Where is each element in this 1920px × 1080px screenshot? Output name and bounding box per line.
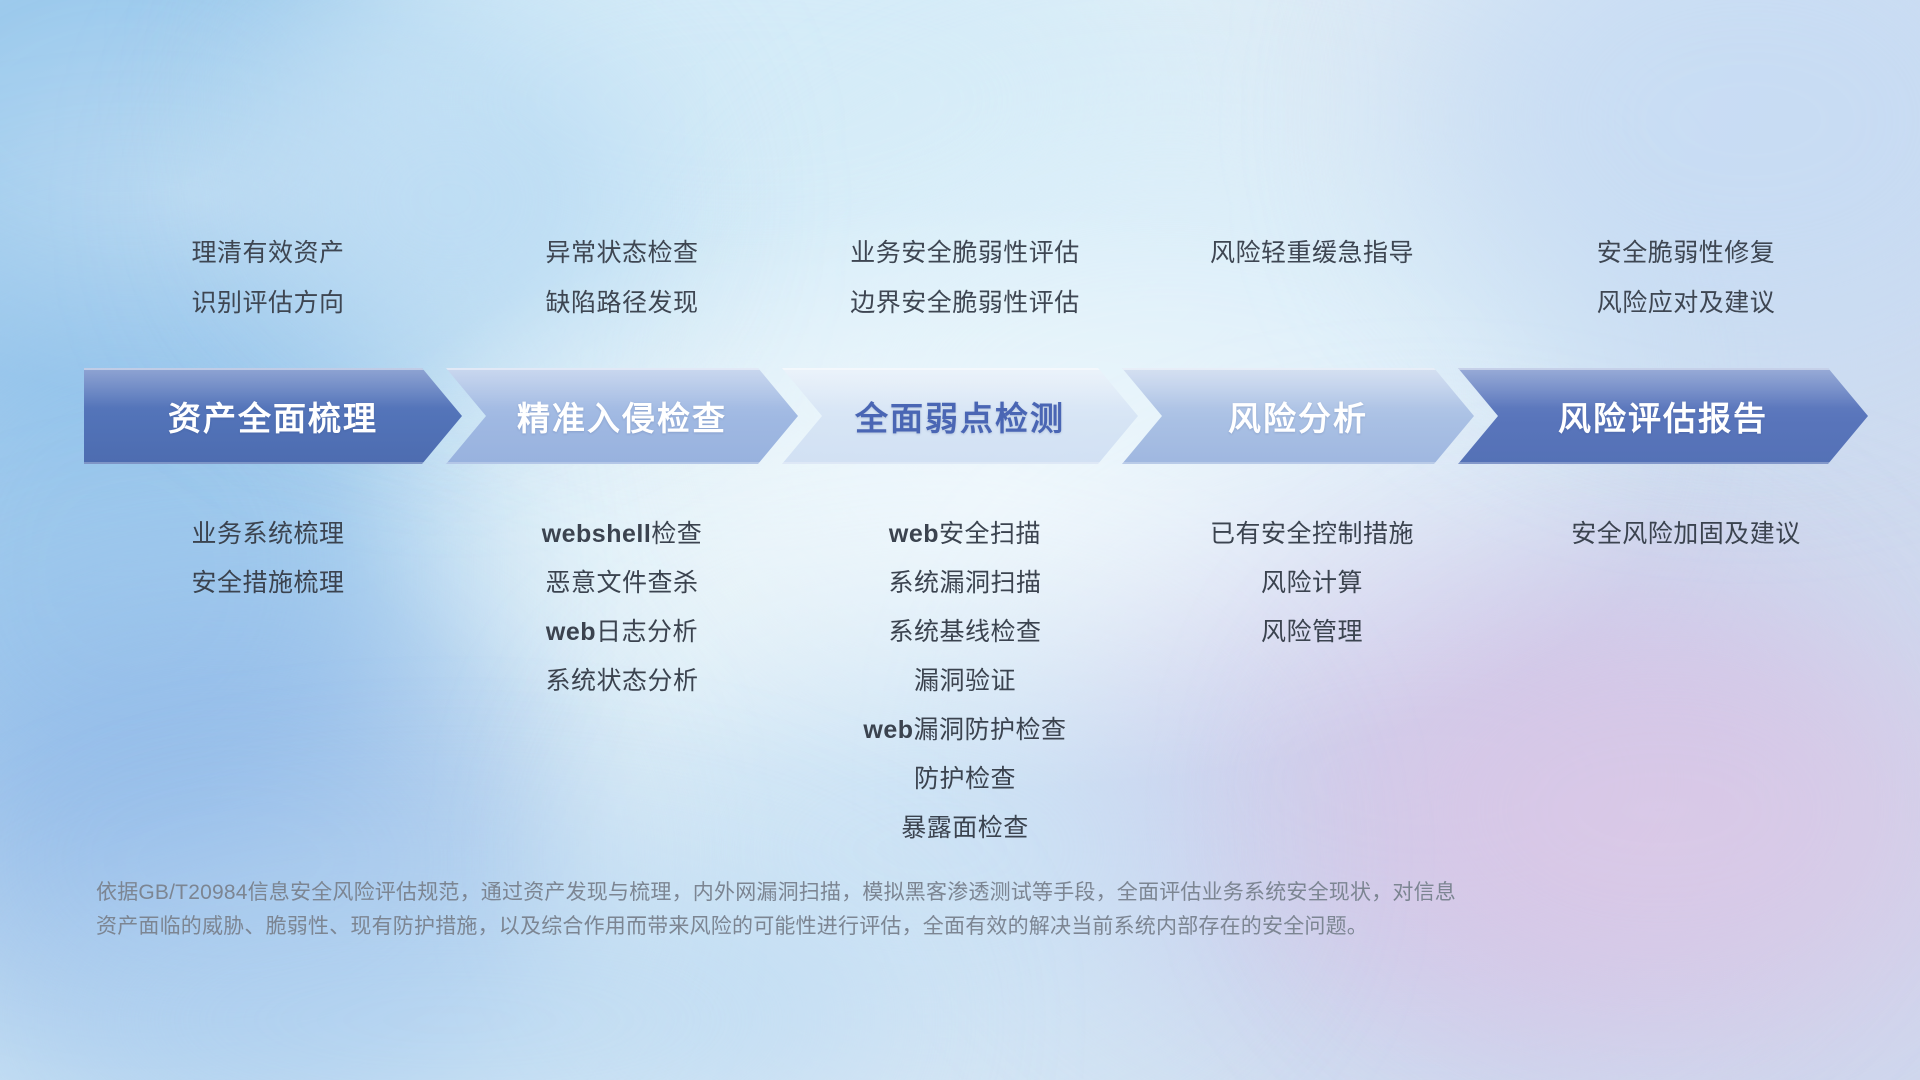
bottom-labels-asset-inventory: 业务系统梳理安全措施梳理 bbox=[84, 510, 452, 853]
top-label: 缺陷路径发现 bbox=[452, 278, 792, 328]
top-labels-weakness-detection: 业务安全脆弱性评估 边界安全脆弱性评估 bbox=[792, 228, 1138, 328]
bottom-label: 系统漏洞扫描 bbox=[792, 559, 1138, 608]
bottom-labels-row: 业务系统梳理安全措施梳理 webshell检查恶意文件查杀web日志分析系统状态… bbox=[84, 510, 1874, 853]
slide-content: 理清有效资产 识别评估方向 异常状态检查 缺陷路径发现 业务安全脆弱性评估 边界… bbox=[0, 0, 1920, 1080]
top-label: 边界安全脆弱性评估 bbox=[792, 278, 1138, 328]
bottom-label: web安全扫描 bbox=[792, 510, 1138, 559]
bottom-label: web漏洞防护检查 bbox=[792, 706, 1138, 755]
bottom-label: 系统状态分析 bbox=[452, 657, 792, 706]
stage-chevron-assessment-report[interactable]: 风险评估报告 bbox=[1458, 368, 1868, 464]
stage-title: 精准入侵检查 bbox=[517, 392, 727, 440]
bottom-label: webshell检查 bbox=[452, 510, 792, 559]
bottom-label-keyword: web bbox=[889, 520, 939, 548]
footer-line: 依据GB/T20984信息安全风险评估规范，通过资产发现与梳理，内外网漏洞扫描，… bbox=[96, 876, 1616, 910]
footer-line: 资产面临的威胁、脆弱性、现有防护措施，以及综合作用而带来风险的可能性进行评估，全… bbox=[96, 910, 1616, 944]
bottom-label: 安全措施梳理 bbox=[84, 559, 452, 608]
top-label: 风险应对及建议 bbox=[1486, 278, 1886, 328]
footer-description: 依据GB/T20984信息安全风险评估规范，通过资产发现与梳理，内外网漏洞扫描，… bbox=[96, 876, 1616, 944]
stage-chevron-asset-inventory[interactable]: 资产全面梳理 bbox=[84, 368, 462, 464]
stage-chevron-intrusion-check[interactable]: 精准入侵检查 bbox=[446, 368, 798, 464]
stage-chevron-risk-analysis[interactable]: 风险分析 bbox=[1122, 368, 1474, 464]
bottom-labels-intrusion-check: webshell检查恶意文件查杀web日志分析系统状态分析 bbox=[452, 510, 792, 853]
top-label: 业务安全脆弱性评估 bbox=[792, 228, 1138, 278]
top-label: 异常状态检查 bbox=[452, 228, 792, 278]
bottom-label: 暴露面检查 bbox=[792, 804, 1138, 853]
top-label: 风险轻重缓急指导 bbox=[1138, 228, 1486, 278]
bottom-label: 系统基线检查 bbox=[792, 608, 1138, 657]
bottom-label: 漏洞验证 bbox=[792, 657, 1138, 706]
bottom-label: 安全风险加固及建议 bbox=[1486, 510, 1886, 559]
stage-title: 风险分析 bbox=[1228, 392, 1368, 440]
bottom-label: 风险管理 bbox=[1138, 608, 1486, 657]
bottom-label: 业务系统梳理 bbox=[84, 510, 452, 559]
bottom-label: 风险计算 bbox=[1138, 559, 1486, 608]
bottom-label-keyword: web bbox=[546, 618, 596, 646]
stage-title: 资产全面梳理 bbox=[168, 392, 378, 440]
bottom-labels-weakness-detection: web安全扫描系统漏洞扫描系统基线检查漏洞验证web漏洞防护检查防护检查暴露面检… bbox=[792, 510, 1138, 853]
top-label: 安全脆弱性修复 bbox=[1486, 228, 1886, 278]
slide-canvas: 理清有效资产 识别评估方向 异常状态检查 缺陷路径发现 业务安全脆弱性评估 边界… bbox=[0, 0, 1920, 1080]
bottom-label: 恶意文件查杀 bbox=[452, 559, 792, 608]
bottom-labels-assessment-report: 安全风险加固及建议 bbox=[1486, 510, 1886, 853]
stage-title: 风险评估报告 bbox=[1558, 392, 1768, 440]
bottom-label-keyword: web bbox=[863, 716, 913, 744]
bottom-label: web日志分析 bbox=[452, 608, 792, 657]
top-labels-row: 理清有效资产 识别评估方向 异常状态检查 缺陷路径发现 业务安全脆弱性评估 边界… bbox=[84, 228, 1874, 328]
stage-chevron-weakness-detection[interactable]: 全面弱点检测 bbox=[782, 368, 1138, 464]
stage-title: 全面弱点检测 bbox=[855, 392, 1065, 440]
top-labels-intrusion-check: 异常状态检查 缺陷路径发现 bbox=[452, 228, 792, 328]
top-label: 理清有效资产 bbox=[84, 228, 452, 278]
bottom-label-keyword: webshell bbox=[542, 520, 652, 548]
top-labels-assessment-report: 安全脆弱性修复 风险应对及建议 bbox=[1486, 228, 1886, 328]
process-chevron-band: 资产全面梳理 精准入侵检查 全面弱点检测 风险分析 风险评估报告 bbox=[84, 368, 1880, 464]
top-labels-risk-analysis: 风险轻重缓急指导 bbox=[1138, 228, 1486, 328]
top-labels-asset-inventory: 理清有效资产 识别评估方向 bbox=[84, 228, 452, 328]
bottom-label: 防护检查 bbox=[792, 755, 1138, 804]
bottom-label: 已有安全控制措施 bbox=[1138, 510, 1486, 559]
top-label: 识别评估方向 bbox=[84, 278, 452, 328]
bottom-labels-risk-analysis: 已有安全控制措施风险计算风险管理 bbox=[1138, 510, 1486, 853]
